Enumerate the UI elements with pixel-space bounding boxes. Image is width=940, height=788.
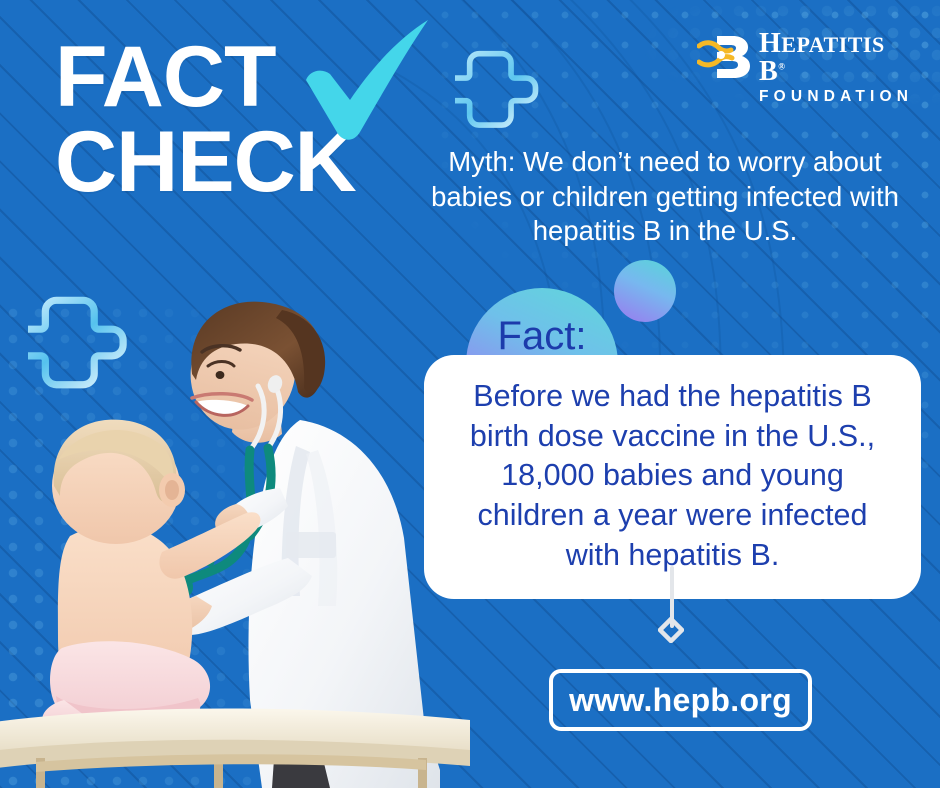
gradient-circle-decoration	[614, 260, 676, 322]
fact-text: Before we had the hepatitis B birth dose…	[448, 377, 897, 575]
website-url-button[interactable]: www.hepb.org	[549, 669, 812, 731]
fact-check-poster: FACT CHECK	[0, 0, 940, 788]
logo-epatitis: EPATITIS	[781, 32, 884, 57]
registered-mark: ®	[778, 62, 785, 72]
myth-text: Myth: We don’t need to worry about babie…	[408, 145, 922, 249]
hepatitis-b-foundation-logo[interactable]: HEPATITIS B® FOUNDATION	[697, 30, 902, 85]
logo-name-line-1: HEPATITIS B®	[759, 30, 913, 86]
connector-diamond-icon	[658, 617, 684, 643]
logo-h: H	[759, 28, 781, 59]
logo-b-letter: B	[759, 56, 778, 87]
checkmark-icon	[296, 18, 436, 148]
fact-label: Fact:	[498, 314, 587, 359]
medical-cross-icon	[28, 296, 132, 400]
website-url-label: www.hepb.org	[569, 682, 792, 719]
hepatitis-b-mark-icon	[697, 32, 755, 82]
medical-cross-icon	[455, 50, 543, 138]
fact-card: Before we had the hepatitis B birth dose…	[424, 355, 921, 599]
logo-name-line-2: FOUNDATION	[759, 89, 913, 105]
